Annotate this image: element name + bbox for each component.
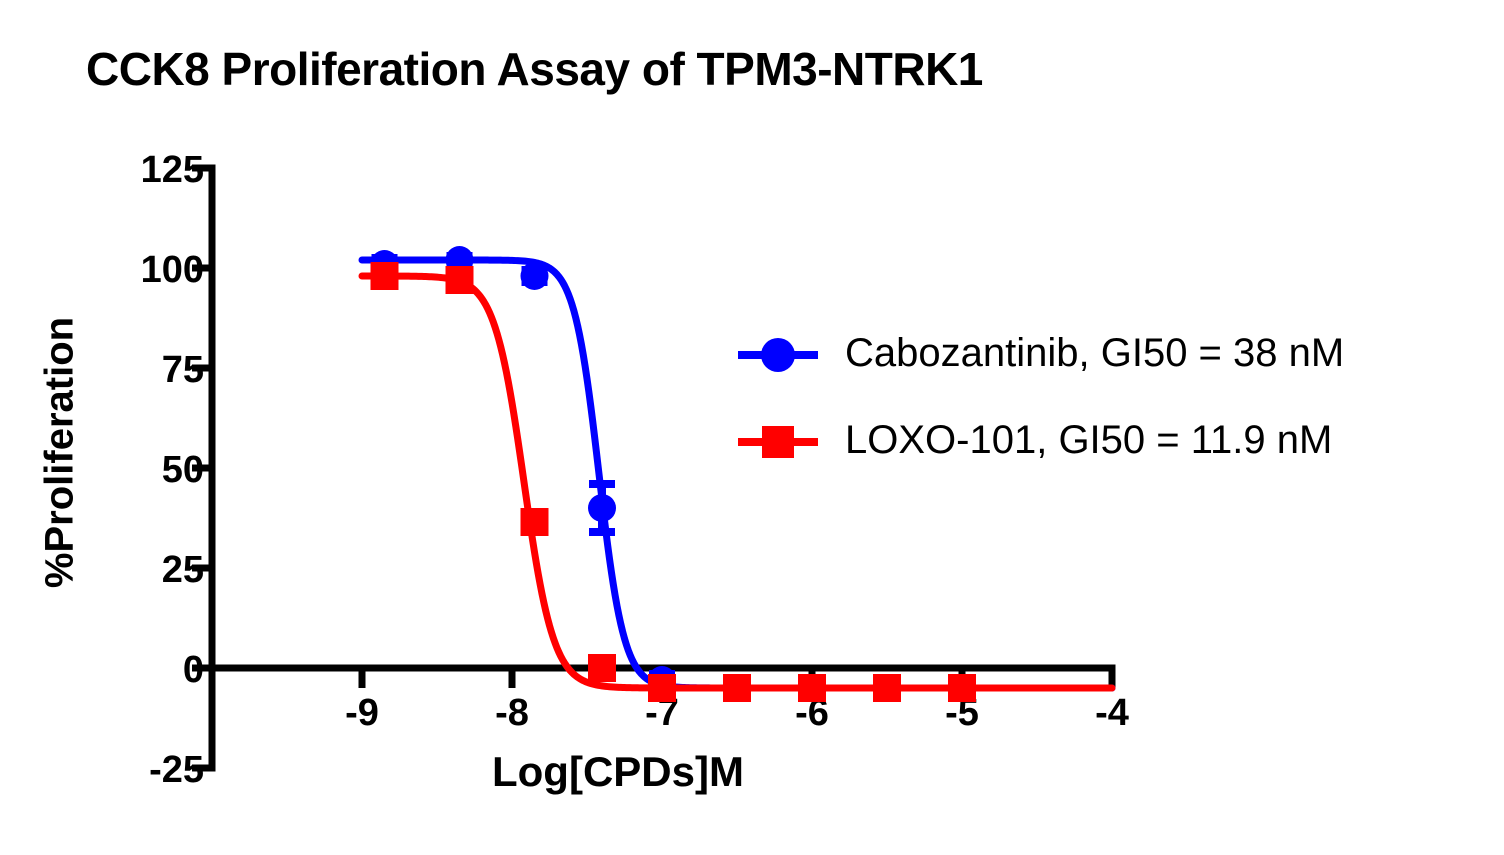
chart-figure: CCK8 Proliferation Assay of TPM3-NTRK1 %…	[0, 0, 1504, 855]
data-marker-square	[648, 674, 676, 702]
data-marker-square	[723, 674, 751, 702]
data-marker-square	[948, 674, 976, 702]
data-marker-square	[371, 262, 399, 290]
legend-label-loxo101: LOXO-101, GI50 = 11.9 nM	[845, 418, 1332, 463]
data-markers	[371, 246, 977, 702]
data-marker-square	[798, 674, 826, 702]
fit-curve-1	[362, 260, 1112, 688]
data-marker-circle	[588, 494, 616, 522]
fit-curves	[362, 260, 1112, 688]
data-marker-circle	[521, 262, 549, 290]
data-marker-square	[446, 266, 474, 294]
error-bars	[372, 256, 976, 692]
data-marker-square	[521, 508, 549, 536]
data-marker-square	[873, 674, 901, 702]
data-marker-square	[588, 654, 616, 682]
legend-label-cabozantinib: Cabozantinib, GI50 = 38 nM	[845, 331, 1344, 376]
